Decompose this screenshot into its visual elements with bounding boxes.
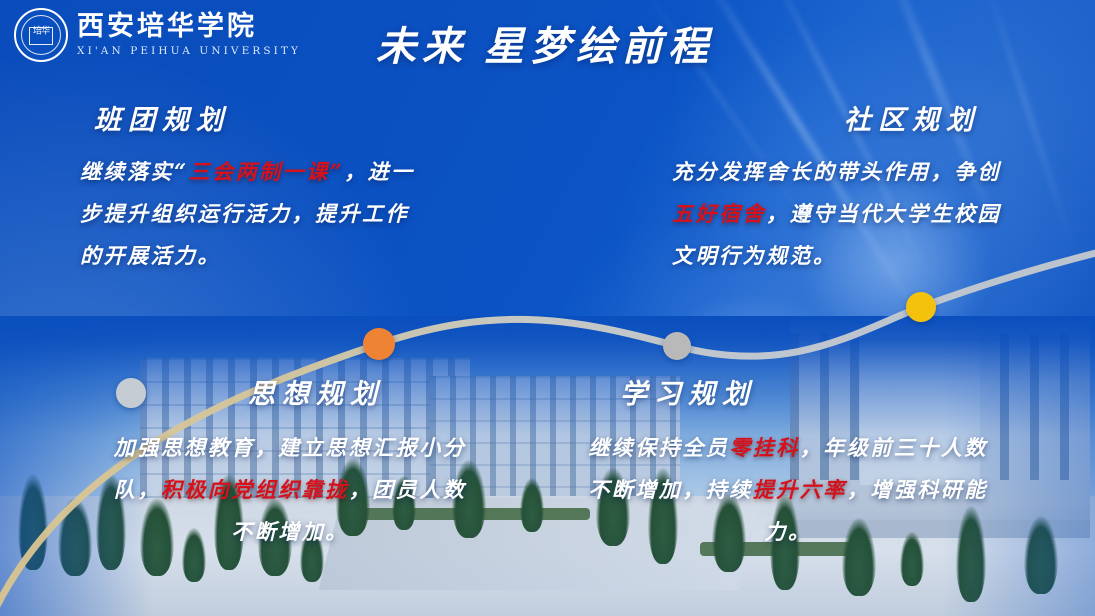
highlight-run: 五好宿舍 bbox=[672, 201, 766, 226]
block-heading-si-xiang: 思想规划 bbox=[248, 372, 470, 411]
brand-text: 西安培华学院 XI'AN PEIHUA UNIVERSITY bbox=[77, 13, 301, 56]
block-she-qu-planning: 社区规划 充分发挥舍长的带头作用，争创五好宿舍，遵守当代大学生校园文明行为规范。 bbox=[672, 98, 1017, 277]
highlight-run: 积极向 bbox=[161, 477, 232, 502]
text-run: ，年级 bbox=[800, 435, 871, 460]
block-heading-ban-tuan: 班团规划 bbox=[94, 98, 430, 137]
block-heading-she-qu: 社区规划 bbox=[844, 98, 1017, 137]
highlight-run: 三会两制一 bbox=[189, 159, 307, 184]
dot-yellow bbox=[906, 292, 936, 322]
highlight-run: 课 bbox=[306, 159, 330, 184]
block-body-xue-xi: 继续保持全员零挂科，年级前三十人数不断增加，持续提升六率，增强科研能力。 bbox=[588, 427, 988, 553]
dot-gray bbox=[663, 332, 691, 360]
highlight-run: 党组织靠拢 bbox=[231, 477, 349, 502]
text-run: 继续保持全员 bbox=[588, 435, 729, 460]
text-run: 活力。 bbox=[151, 243, 222, 268]
slide-title-part1: 未来 bbox=[376, 23, 468, 70]
block-body-she-qu: 充分发挥舍长的带头作用，争创五好宿舍，遵守当代大学生校园文明行为规范。 bbox=[672, 151, 1017, 277]
quote-open: “ bbox=[174, 159, 189, 184]
seal-inner-mark: 培华 bbox=[33, 24, 49, 37]
brand-name-cn: 西安培华学院 bbox=[77, 13, 301, 41]
brand-logo: 培华 西安培华学院 XI'AN PEIHUA UNIVERSITY bbox=[14, 8, 301, 62]
text-run: 继续落实 bbox=[80, 159, 174, 184]
block-body-ban-tuan: 继续落实“三会两制一课”，进一步提升组织运行活力，提升工作的开展活力。 bbox=[80, 151, 430, 277]
presentation-slide: 培华 西安培华学院 XI'AN PEIHUA UNIVERSITY 未来星梦绘前… bbox=[0, 0, 1095, 616]
block-heading-xue-xi: 学习规划 bbox=[620, 372, 988, 411]
highlight-run: 提升六率 bbox=[753, 477, 847, 502]
text-run: ，遵守当代 bbox=[766, 201, 884, 226]
quote-close: ” bbox=[330, 159, 345, 184]
slide-title: 未来星梦绘前程 bbox=[330, 14, 760, 72]
block-ban-tuan-planning: 班团规划 继续落实“三会两制一课”，进一步提升组织运行活力，提升工作的开展活力。 bbox=[80, 98, 430, 277]
highlight-run: 零挂科 bbox=[729, 435, 800, 460]
brand-name-en: XI'AN PEIHUA UNIVERSITY bbox=[77, 45, 301, 57]
block-xue-xi-planning: 学习规划 继续保持全员零挂科，年级前三十人数不断增加，持续提升六率，增强科研能力… bbox=[588, 372, 988, 553]
university-seal-icon: 培华 bbox=[14, 8, 68, 62]
block-si-xiang-planning: 思想规划 加强思想教育，建立思想汇报小分队，积极向党组织靠拢，团员人数不断增加。 bbox=[110, 372, 470, 553]
slide-title-part2: 星梦绘前程 bbox=[484, 23, 714, 70]
block-body-si-xiang: 加强思想教育，建立思想汇报小分队，积极向党组织靠拢，团员人数不断增加。 bbox=[110, 427, 470, 553]
text-run: ，团员人 bbox=[349, 477, 443, 502]
text-run: 争创 bbox=[954, 159, 1001, 184]
text-run: 加强思想教育，建立思 bbox=[114, 435, 349, 460]
dot-orange bbox=[363, 328, 395, 360]
text-run: 充分发挥舍长的带头作用， bbox=[672, 159, 954, 184]
